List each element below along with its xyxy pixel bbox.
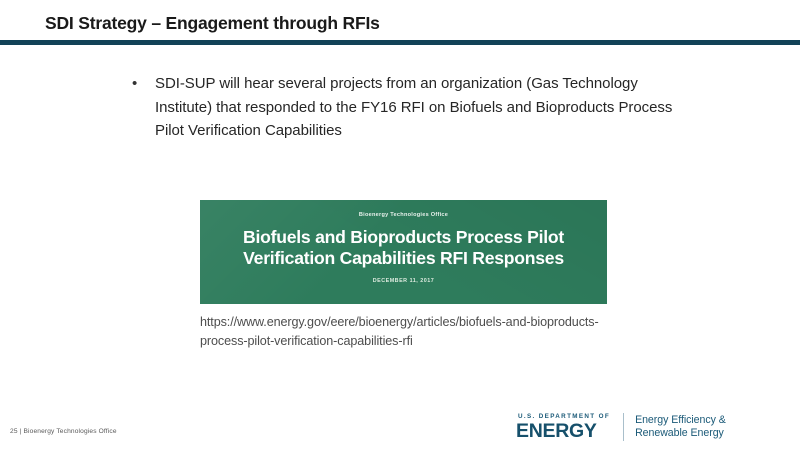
doe-logo: U.S. DEPARTMENT OF ENERGY Energy Efficie…	[516, 412, 726, 442]
bullet-item: • SDI-SUP will hear several projects fro…	[128, 72, 673, 143]
banner-date: DECEMBER 11, 2017	[200, 278, 607, 284]
source-url-link[interactable]: https://www.energy.gov/eere/bioenergy/ar…	[200, 313, 630, 350]
bullet-marker-icon: •	[128, 72, 155, 96]
doe-energy-wordmark: ENERGY	[516, 421, 610, 441]
body-content: • SDI-SUP will hear several projects fro…	[128, 72, 673, 143]
doe-tagline-line2: Renewable Energy	[635, 427, 726, 441]
banner-headline: Biofuels and Bioproducts Process Pilot V…	[214, 227, 593, 268]
doe-wordmark: U.S. DEPARTMENT OF ENERGY	[516, 413, 610, 441]
banner-office-label: Bioenergy Technologies Office	[200, 212, 607, 218]
footer-slide-number: 25 | Bioenergy Technologies Office	[10, 428, 117, 435]
doe-tagline: Energy Efficiency & Renewable Energy	[635, 414, 726, 441]
bullet-text: SDI-SUP will hear several projects from …	[155, 72, 673, 143]
page-title: SDI Strategy – Engagement through RFIs	[45, 13, 380, 34]
doe-tagline-line1: Energy Efficiency &	[635, 414, 726, 428]
title-divider	[0, 40, 800, 45]
doe-logo-divider	[623, 413, 624, 441]
rfi-banner-image: Bioenergy Technologies Office Biofuels a…	[200, 200, 607, 304]
